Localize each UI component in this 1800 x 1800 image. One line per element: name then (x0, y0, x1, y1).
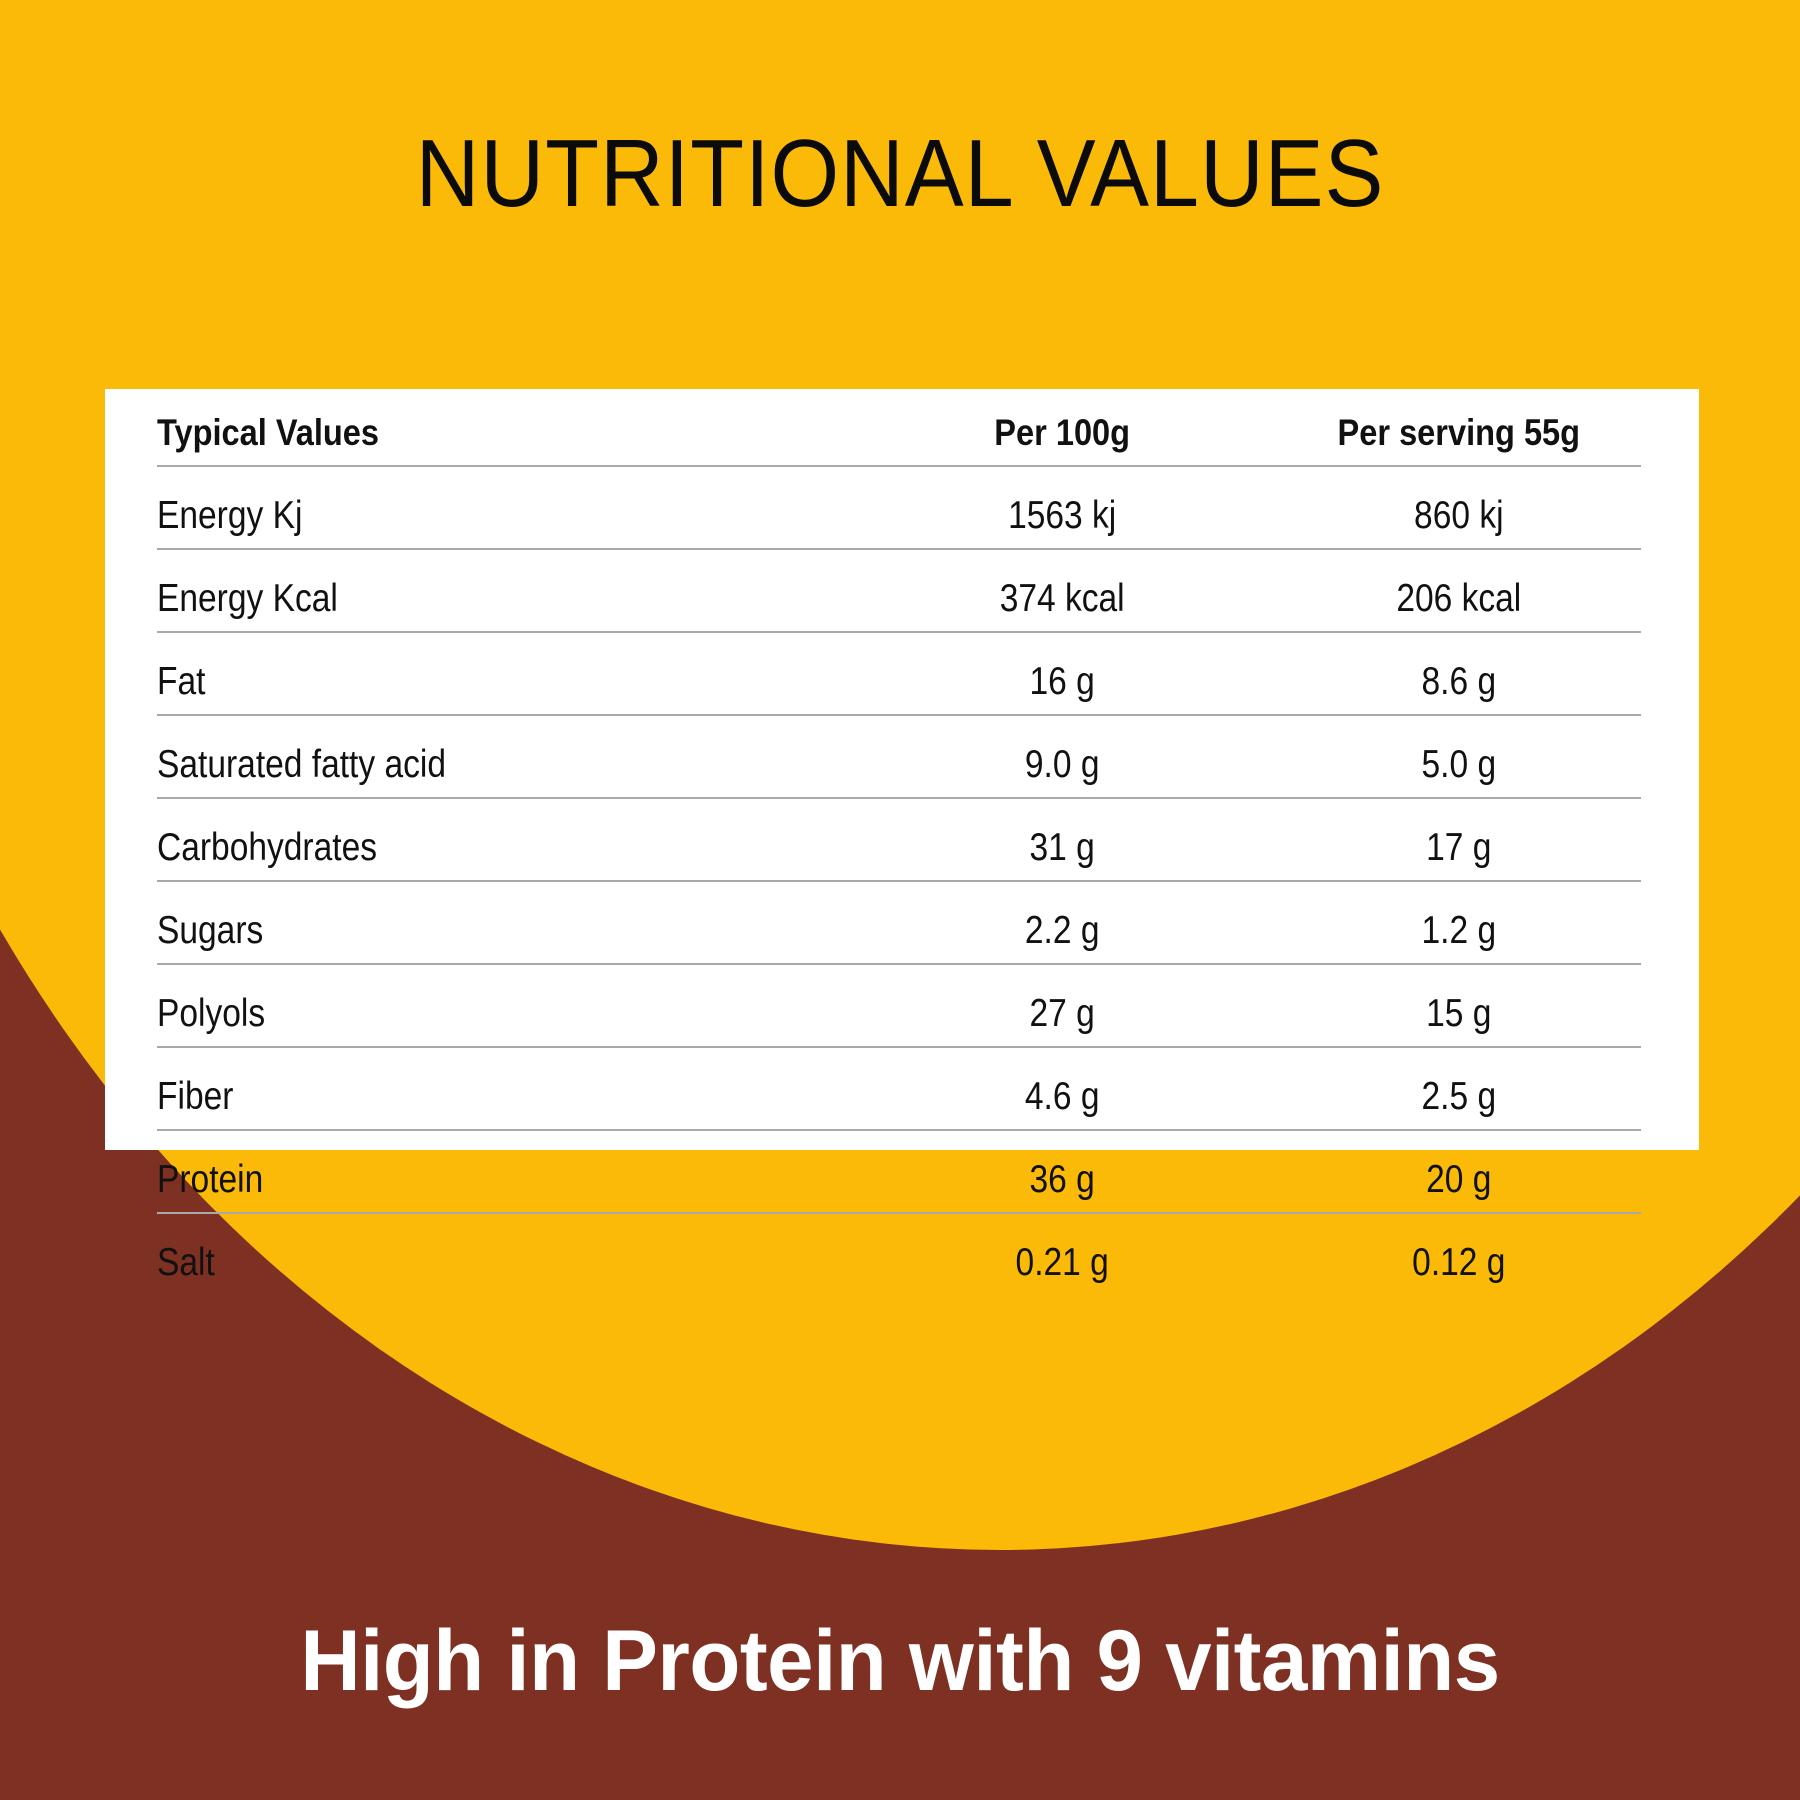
row-value-per-serving: 15 g (1303, 964, 1616, 1047)
row-value-per-100g: 0.21 g (877, 1213, 1247, 1295)
column-header-per-100g: Per 100g (873, 414, 1252, 466)
footer-claim: High in Protein with 9 vitamins (27, 1618, 1773, 1704)
table-row: Salt 0.21 g 0.12 g (157, 1213, 1641, 1295)
row-label: Salt (157, 1213, 750, 1295)
row-label: Polyols (157, 964, 750, 1047)
table-row: Energy Kj 1563 kj 860 kj (157, 466, 1641, 549)
row-value-per-serving: 206 kcal (1303, 549, 1616, 632)
row-value-per-serving: 0.12 g (1303, 1213, 1616, 1295)
row-label: Saturated fatty acid (157, 715, 750, 798)
nutrition-poster: NUTRITIONAL VALUES Typical Values Per 10… (0, 0, 1800, 1800)
nutrition-table-wrapper: Typical Values Per 100g Per serving 55g … (157, 414, 1641, 1295)
table-row: Sugars 2.2 g 1.2 g (157, 881, 1641, 964)
row-value-per-100g: 31 g (877, 798, 1247, 881)
row-value-per-100g: 16 g (877, 632, 1247, 715)
row-value-per-100g: 374 kcal (877, 549, 1247, 632)
table-header-row: Typical Values Per 100g Per serving 55g (157, 414, 1641, 466)
page-title: NUTRITIONAL VALUES (72, 126, 1728, 222)
row-value-per-serving: 20 g (1303, 1130, 1616, 1213)
row-label: Sugars (157, 881, 750, 964)
row-value-per-100g: 9.0 g (877, 715, 1247, 798)
row-label: Fat (157, 632, 750, 715)
row-value-per-100g: 2.2 g (877, 881, 1247, 964)
row-value-per-serving: 2.5 g (1303, 1047, 1616, 1130)
table-body: Energy Kj 1563 kj 860 kj Energy Kcal 374… (157, 466, 1641, 1295)
row-label: Energy Kcal (157, 549, 750, 632)
row-value-per-serving: 17 g (1303, 798, 1616, 881)
row-label: Protein (157, 1130, 750, 1213)
table-row: Saturated fatty acid 9.0 g 5.0 g (157, 715, 1641, 798)
nutrition-table: Typical Values Per 100g Per serving 55g … (157, 414, 1641, 1295)
row-value-per-100g: 4.6 g (877, 1047, 1247, 1130)
table-row: Energy Kcal 374 kcal 206 kcal (157, 549, 1641, 632)
row-value-per-serving: 8.6 g (1303, 632, 1616, 715)
table-header: Typical Values Per 100g Per serving 55g (157, 414, 1641, 466)
table-row: Carbohydrates 31 g 17 g (157, 798, 1641, 881)
row-label: Fiber (157, 1047, 750, 1130)
row-label: Energy Kj (157, 466, 750, 549)
row-value-per-100g: 1563 kj (877, 466, 1247, 549)
table-row: Polyols 27 g 15 g (157, 964, 1641, 1047)
row-value-per-100g: 27 g (877, 964, 1247, 1047)
table-row: Fiber 4.6 g 2.5 g (157, 1047, 1641, 1130)
column-header-typical-values: Typical Values (157, 414, 764, 466)
nutrition-card: Typical Values Per 100g Per serving 55g … (105, 389, 1699, 1150)
table-row: Fat 16 g 8.6 g (157, 632, 1641, 715)
row-value-per-serving: 5.0 g (1303, 715, 1616, 798)
table-row: Protein 36 g 20 g (157, 1130, 1641, 1213)
column-header-per-serving: Per serving 55g (1299, 414, 1619, 466)
row-value-per-serving: 860 kj (1303, 466, 1616, 549)
row-label: Carbohydrates (157, 798, 750, 881)
row-value-per-100g: 36 g (877, 1130, 1247, 1213)
row-value-per-serving: 1.2 g (1303, 881, 1616, 964)
